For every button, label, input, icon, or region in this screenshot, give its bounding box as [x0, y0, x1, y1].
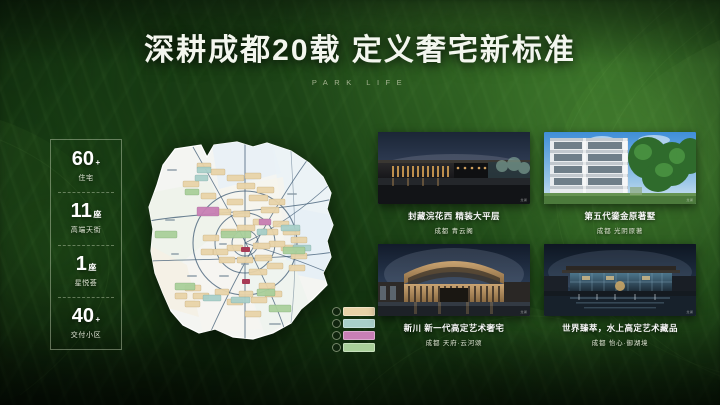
stat-number: 1: [76, 254, 87, 274]
stat-value: 60 +: [72, 149, 100, 169]
project-location: 成都 青云阁: [434, 225, 473, 235]
stat-item: 11 座 高端天街: [51, 192, 121, 244]
stat-value: 40 +: [72, 306, 100, 326]
project-title: 世界臻萃，水上高定艺术藏品: [562, 322, 678, 334]
stat-item: 1 座 星悦荟: [51, 245, 121, 297]
stat-unit: +: [96, 159, 101, 167]
legend-swatch: [343, 343, 375, 353]
legend-item: [332, 331, 376, 341]
photo-watermark: 龙湖: [686, 310, 693, 314]
stat-label: 高端天街: [71, 225, 101, 235]
project-title: 新川 新一代高定艺术奢宅: [404, 322, 505, 334]
photo-watermark: 龙湖: [520, 198, 527, 202]
project-card[interactable]: 龙湖 封藏浣花西 精装大平层 成都 青云阁: [378, 132, 530, 235]
stats-panel: 60 + 住宅 11 座 高端天街 1 座 星悦荟 40 + 交付小区: [50, 139, 122, 350]
photo-watermark: 龙湖: [520, 310, 527, 314]
legend-swatch: [343, 307, 375, 317]
legend-item: [332, 319, 376, 329]
stat-unit: 座: [93, 211, 101, 219]
legend-swatch: [343, 319, 375, 329]
modern-apartment-trees-image: [544, 132, 696, 204]
stat-label: 星悦荟: [75, 278, 98, 288]
stat-item: 60 + 住宅: [51, 140, 121, 192]
legend-marker-icon: [332, 307, 341, 316]
project-card[interactable]: 龙湖 世界臻萃，水上高定艺术藏品 成都 怡心·御湖境: [544, 244, 696, 347]
stat-number: 40: [72, 306, 94, 326]
stat-number: 60: [72, 149, 94, 169]
legend-item: [332, 307, 376, 317]
photo-watermark: 龙湖: [686, 198, 693, 202]
map-legend: [332, 307, 376, 353]
project-photo: 龙湖: [544, 244, 696, 316]
waterfront-glass-pavilion-image: [544, 244, 696, 316]
project-card-grid: 龙湖 封藏浣花西 精装大平层 成都 青云阁: [378, 132, 696, 347]
page-subtitle: PARK LIFE: [0, 78, 720, 87]
legend-swatch: [343, 331, 375, 341]
project-photo: 龙湖: [378, 244, 530, 316]
stat-item: 40 + 交付小区: [51, 297, 121, 349]
stat-unit: 座: [88, 264, 96, 272]
stat-value: 11 座: [71, 201, 102, 221]
curved-colonnade-building-image: [378, 244, 530, 316]
slide-canvas: 深耕成都20载 定义奢宅新标准 PARK LIFE 60 + 住宅 11 座 高…: [0, 0, 720, 405]
stat-unit: +: [96, 316, 101, 324]
project-title: 第五代鎏金原著墅: [584, 210, 655, 222]
project-location: 成都 怡心·御湖境: [592, 337, 649, 347]
legend-item: [332, 343, 376, 353]
page-title: 深耕成都20载 定义奢宅新标准: [0, 34, 720, 67]
project-title: 封藏浣花西 精装大平层: [408, 210, 500, 222]
stat-label: 交付小区: [71, 330, 101, 340]
legend-marker-icon: [332, 331, 341, 340]
stat-label: 住宅: [78, 173, 93, 183]
legend-marker-icon: [332, 343, 341, 352]
stat-value: 1 座: [76, 254, 97, 274]
project-location: 成都 光阴原著: [597, 225, 643, 235]
chengdu-map: [141, 133, 373, 358]
project-photo: 龙湖: [378, 132, 530, 204]
stat-number: 11: [71, 201, 92, 221]
legend-marker-icon: [332, 319, 341, 328]
night-villa-facade-image: [378, 132, 530, 204]
project-card[interactable]: 龙湖 第五代鎏金原著墅 成都 光阴原著: [544, 132, 696, 235]
project-photo: 龙湖: [544, 132, 696, 204]
project-card[interactable]: 龙湖 新川 新一代高定艺术奢宅 成都 天府·云河颂: [378, 244, 530, 347]
project-location: 成都 天府·云河颂: [426, 337, 483, 347]
slide-header: 深耕成都20载 定义奢宅新标准 PARK LIFE: [0, 34, 720, 87]
